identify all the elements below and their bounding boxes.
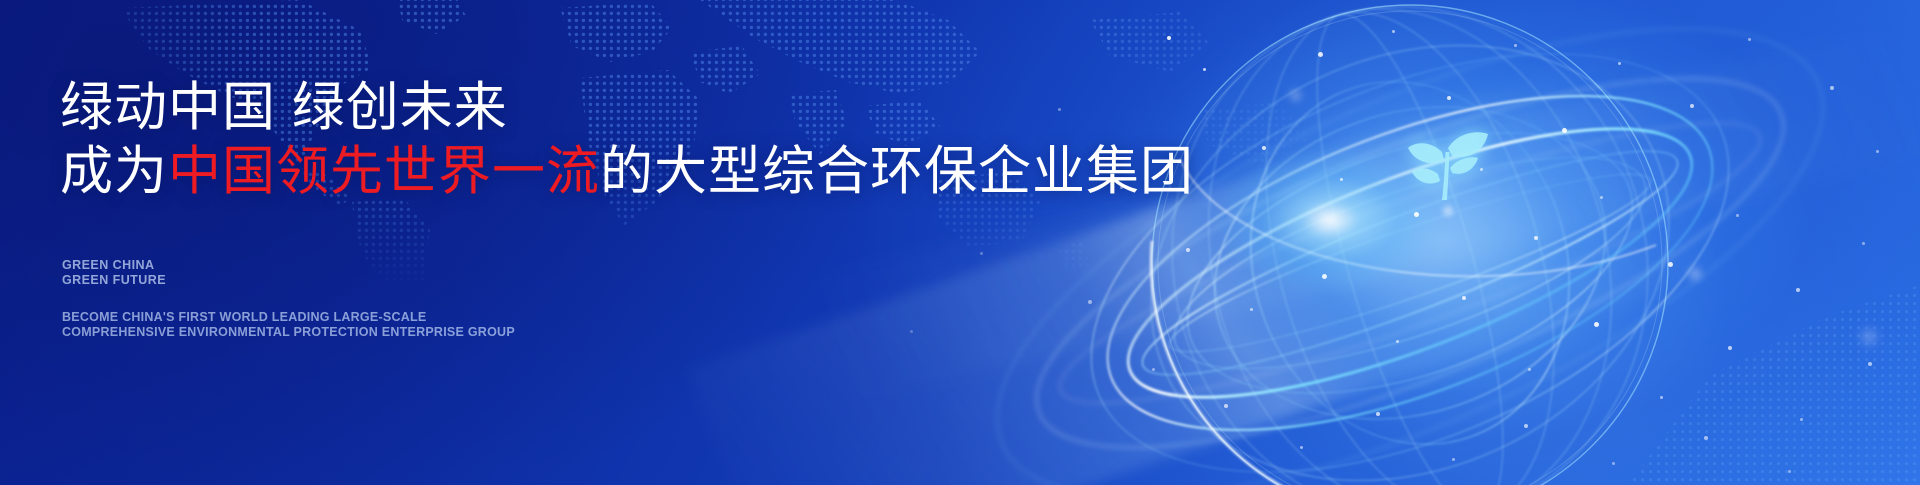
- kicker-line-1: GREEN CHINA: [62, 258, 166, 273]
- subline-line-2: COMPREHENSIVE ENVIRONMENTAL PROTECTION E…: [62, 325, 515, 340]
- subline-line-1: BECOME CHINA'S FIRST WORLD LEADING LARGE…: [62, 310, 515, 325]
- headline-line-2-prefix: 成为: [60, 142, 168, 201]
- hero-banner: 绿动中国 绿创未来 成为中国领先世界一流的大型综合环保企业集团 GREEN CH…: [0, 0, 1920, 485]
- headline-line-2: 成为中国领先世界一流的大型综合环保企业集团: [60, 140, 1194, 204]
- headline-line-1: 绿动中国 绿创未来: [60, 76, 1194, 140]
- sprout-seedling-icon: [1396, 108, 1496, 208]
- copy-block: 绿动中国 绿创未来 成为中国领先世界一流的大型综合环保企业集团 GREEN CH…: [60, 0, 1060, 485]
- kicker-english: GREEN CHINA GREEN FUTURE: [62, 258, 166, 288]
- headline-highlight: 中国领先世界一流: [168, 142, 600, 201]
- headline: 绿动中国 绿创未来 成为中国领先世界一流的大型综合环保企业集团: [60, 76, 1194, 204]
- kicker-line-2: GREEN FUTURE: [62, 273, 166, 288]
- subline-english: BECOME CHINA'S FIRST WORLD LEADING LARGE…: [62, 310, 515, 340]
- dot-cluster-decoration: [1560, 245, 1920, 485]
- headline-line-2-suffix: 的大型综合环保企业集团: [600, 142, 1194, 201]
